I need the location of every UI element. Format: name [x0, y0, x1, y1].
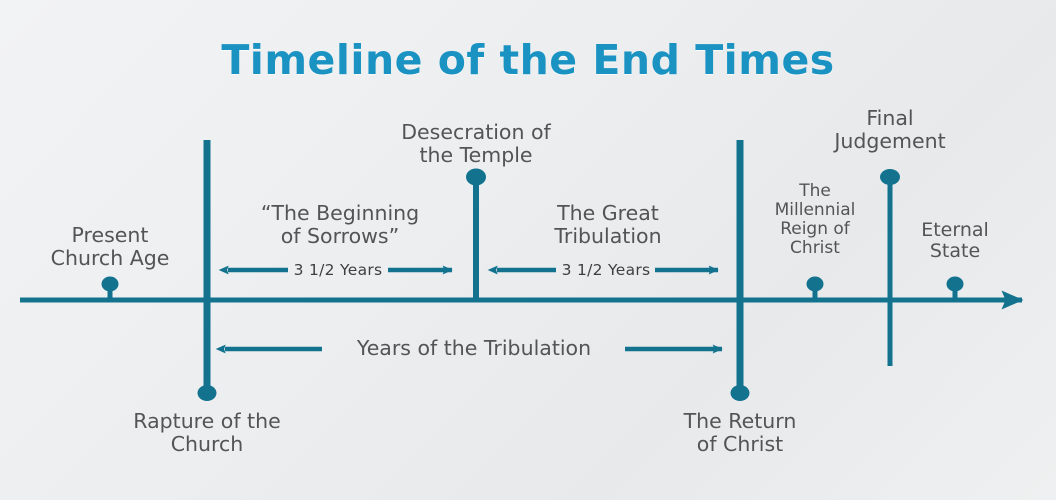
- label-line: “The Beginning: [240, 202, 440, 225]
- timeline-diagram: Timeline of the End Times: [0, 0, 1056, 500]
- marker-eternal-state: [947, 277, 964, 301]
- label-line: Rapture of the: [107, 410, 307, 433]
- label-line: Church: [107, 433, 307, 456]
- duration-great-tribulation: 3 1/2 Years: [556, 262, 656, 279]
- label-line: Eternal: [880, 220, 1030, 241]
- label-line: the Temple: [376, 144, 576, 167]
- label-line: Millennial: [755, 201, 875, 220]
- label-the-return-of-christ: The Return of Christ: [640, 410, 840, 456]
- marker-rapture-of-the-church: [198, 140, 217, 401]
- marker-desecration-of-the-temple: [466, 169, 486, 301]
- marker-the-return-of-christ: [731, 140, 750, 401]
- marker-present-church-age: [102, 277, 119, 301]
- label-beginning-of-sorrows: “The Beginning of Sorrows”: [240, 202, 440, 248]
- label-line: Judgement: [790, 130, 990, 153]
- label-line: Present: [10, 224, 210, 247]
- label-line: State: [880, 241, 1030, 262]
- label-line: Church Age: [10, 247, 210, 270]
- label-years-of-the-tribulation: Years of the Tribulation: [322, 337, 626, 360]
- label-the-great-tribulation: The Great Tribulation: [508, 202, 708, 248]
- duration-beginning-of-sorrows: 3 1/2 Years: [288, 262, 388, 279]
- label-rapture-of-the-church: Rapture of the Church: [107, 410, 307, 456]
- label-line: The Great: [508, 202, 708, 225]
- label-final-judgement: Final Judgement: [790, 107, 990, 153]
- label-line: of Christ: [640, 433, 840, 456]
- label-line: Christ: [755, 239, 875, 258]
- label-the-millennial-reign-of-christ: The Millennial Reign of Christ: [755, 182, 875, 258]
- marker-final-judgement: [880, 169, 900, 366]
- label-eternal-state: Eternal State: [880, 220, 1030, 263]
- label-present-church-age: Present Church Age: [10, 224, 210, 270]
- label-line: of Sorrows”: [240, 225, 440, 248]
- marker-the-millennial-reign-of-christ: [807, 277, 824, 301]
- label-desecration-of-the-temple: Desecration of the Temple: [376, 121, 576, 167]
- label-line: Tribulation: [508, 225, 708, 248]
- label-line: The: [755, 182, 875, 201]
- label-line: Reign of: [755, 220, 875, 239]
- label-line: The Return: [640, 410, 840, 433]
- label-line: Final: [790, 107, 990, 130]
- label-line: Desecration of: [376, 121, 576, 144]
